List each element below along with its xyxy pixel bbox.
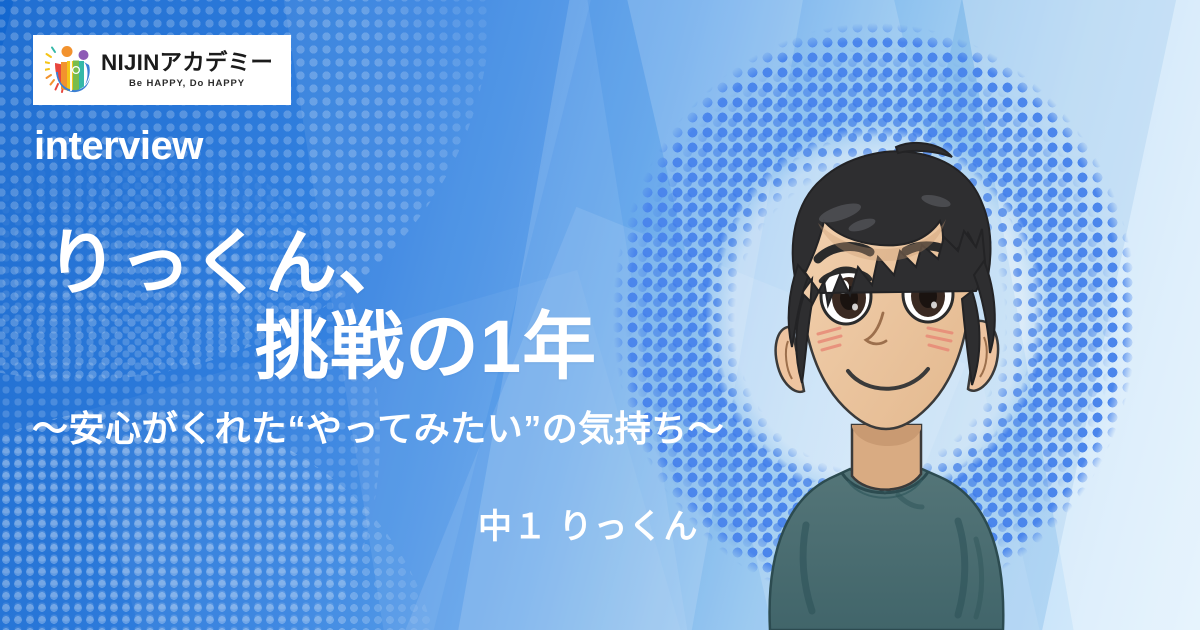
nijin-academy-logo-card[interactable]: NIJINアカデミー Be HAPPY, Do HAPPY bbox=[33, 35, 291, 105]
interview-banner: NIJINアカデミー Be HAPPY, Do HAPPY interview … bbox=[0, 0, 1200, 630]
headline-line-1: りっくん、 bbox=[46, 228, 411, 300]
byline-label: 中１ りっくん bbox=[478, 510, 698, 544]
anime-boy-portrait bbox=[700, 95, 1070, 630]
headline-line-2: 挑戦の1年 bbox=[255, 310, 597, 384]
nijin-rainbow-book-mark bbox=[45, 44, 95, 96]
logo-title: NIJINアカデミー bbox=[101, 51, 273, 75]
headline-subtitle: 〜安心がくれた“やってみたい”の気持ち〜 bbox=[32, 408, 724, 449]
logo-tagline: Be HAPPY, Do HAPPY bbox=[101, 79, 273, 89]
eyebrow-label: interview bbox=[34, 126, 203, 166]
